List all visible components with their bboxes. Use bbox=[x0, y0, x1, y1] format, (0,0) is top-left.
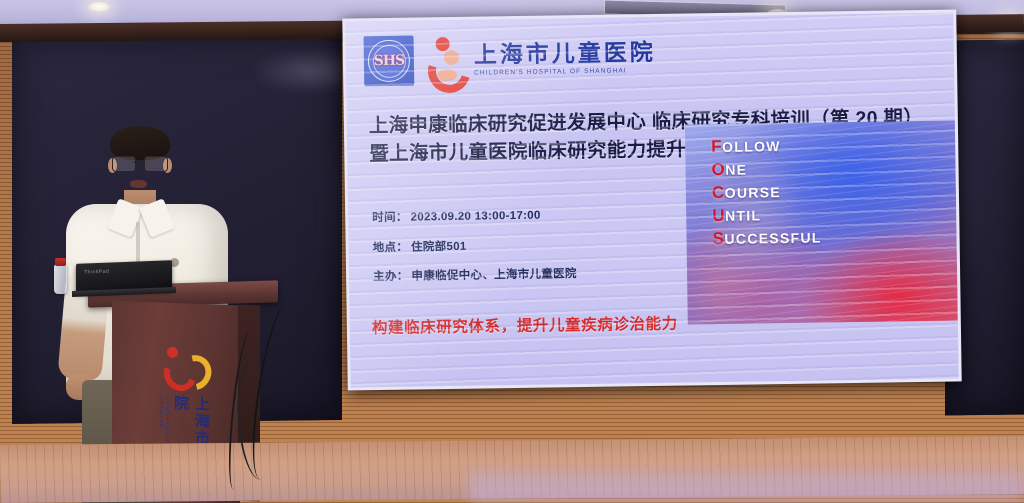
floor-light-reflection bbox=[470, 470, 1024, 503]
childrens-hospital-mascot-icon bbox=[423, 36, 464, 85]
focus-rest-follow: OLLOW bbox=[722, 138, 781, 155]
slide-header: SHS 上海市儿童医院 CHILDREN'S HOSPITAL OF SHANG… bbox=[363, 25, 942, 90]
downlight-icon bbox=[88, 2, 110, 12]
slide-slogan: 构建临床研究体系，提升儿童疾病诊治能力 bbox=[372, 312, 678, 339]
laptop-brand-label: ThinkPad bbox=[84, 269, 109, 276]
focus-initial-c: C bbox=[712, 183, 725, 202]
slide-canvas: SHS 上海市儿童医院 CHILDREN'S HOSPITAL OF SHANG… bbox=[345, 13, 958, 388]
meta-value-organizer: 申康临促中心、上海市儿童医院 bbox=[411, 269, 576, 283]
water-bottle-cap bbox=[55, 258, 66, 266]
focus-acrostic-list: FOLLOW ONE COURSE UNTIL SUCCESSFUL bbox=[711, 136, 822, 247]
focus-rest-until: NTIL bbox=[725, 207, 762, 224]
focus-initial-u: U bbox=[712, 206, 725, 225]
meta-row-location: 地点： 住院部501 bbox=[373, 238, 703, 254]
meta-value-time: 2023.09.20 13:00-17:00 bbox=[411, 211, 541, 224]
focus-rest-one: NE bbox=[725, 162, 747, 178]
hospital-name-block: 上海市儿童医院 CHILDREN'S HOSPITAL OF SHANGHAI bbox=[474, 40, 656, 76]
meta-label-location: 地点： bbox=[373, 242, 409, 254]
shenkang-logo-glyph: SHS bbox=[374, 53, 405, 69]
focus-initial-f: F bbox=[711, 137, 722, 156]
focus-initial-o: O bbox=[711, 160, 725, 179]
focus-line-successful: SUCCESSFUL bbox=[712, 228, 821, 247]
eyeglasses-icon bbox=[112, 156, 168, 171]
speaker-mouth bbox=[130, 180, 147, 188]
focus-line-course: COURSE bbox=[712, 182, 821, 201]
podium-hospital-mascot-icon bbox=[164, 347, 202, 390]
slide-meta-list: 时间： 2023.09.20 13:00-17:00 地点： 住院部501 主办… bbox=[372, 208, 703, 301]
focus-image-panel: FOLLOW ONE COURSE UNTIL SUCCESSFUL bbox=[685, 120, 958, 324]
meta-label-organizer: 主办： bbox=[373, 272, 409, 284]
focus-rest-successful: UCCESSFUL bbox=[724, 229, 821, 246]
meta-row-organizer: 主办： 申康临促中心、上海市儿童医院 bbox=[373, 267, 703, 283]
hospital-name-en: CHILDREN'S HOSPITAL OF SHANGHAI bbox=[474, 66, 656, 76]
meta-value-location: 住院部501 bbox=[411, 241, 467, 253]
focus-rest-course: OURSE bbox=[725, 184, 782, 201]
focus-line-until: UNTIL bbox=[712, 205, 821, 224]
focus-line-follow: FOLLOW bbox=[711, 136, 820, 155]
conference-room-scene: SHS 上海市儿童医院 CHILDREN'S HOSPITAL OF SHANG… bbox=[0, 0, 1024, 503]
focus-initial-s: S bbox=[712, 229, 724, 248]
focus-line-one: ONE bbox=[711, 159, 820, 178]
meta-row-time: 时间： 2023.09.20 13:00-17:00 bbox=[372, 208, 702, 224]
meta-label-time: 时间： bbox=[372, 213, 408, 225]
water-bottle bbox=[54, 264, 67, 294]
shenkang-logo-icon: SHS bbox=[364, 36, 415, 87]
hospital-name-cn: 上海市儿童医院 bbox=[474, 40, 656, 67]
projection-screen[interactable]: SHS 上海市儿童医院 CHILDREN'S HOSPITAL OF SHANG… bbox=[342, 9, 961, 390]
